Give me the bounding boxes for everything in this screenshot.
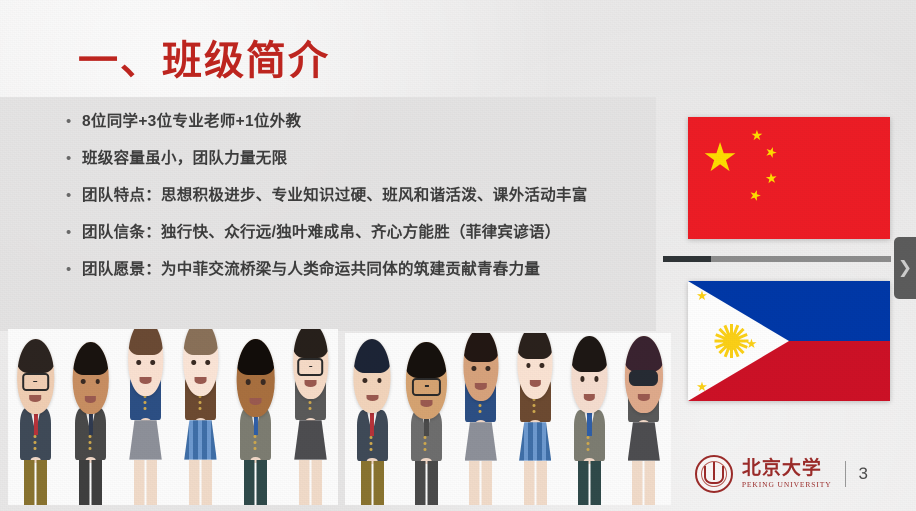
list-item: • 团队信条：独行快、众行远/独叶难成帛、齐心方能胜（菲律宾谚语） xyxy=(0,220,656,246)
figure-eye xyxy=(95,379,100,384)
figure-head xyxy=(406,342,446,419)
scrollbar-thumb[interactable] xyxy=(663,256,711,262)
figure-legs xyxy=(24,460,47,505)
student-figure xyxy=(10,354,61,505)
china-flag-star-icon: ★ xyxy=(702,138,738,178)
figure-legs xyxy=(578,461,601,505)
figure-sunglasses-icon xyxy=(629,370,658,385)
list-item: • 班级容量虽小，团队力量无限 xyxy=(0,146,656,172)
figure-torso xyxy=(574,410,605,460)
figure-legs xyxy=(299,460,322,505)
figure-eye xyxy=(594,376,599,381)
university-name-en: PEKING UNIVERSITY xyxy=(742,481,832,489)
figure-eye xyxy=(81,379,86,384)
figure-head xyxy=(72,342,109,415)
student-group-photo-right xyxy=(345,333,671,505)
figure-hair xyxy=(236,339,275,375)
figure-mouth xyxy=(475,383,486,390)
figure-mouth xyxy=(638,394,650,401)
next-slide-button[interactable]: ❯ xyxy=(894,237,916,299)
footer-divider xyxy=(845,461,846,487)
student-figure xyxy=(564,357,614,505)
figure-hair xyxy=(625,336,663,371)
figure-eye xyxy=(526,363,531,368)
figure-hair xyxy=(72,342,109,375)
figure-head xyxy=(183,329,219,396)
horizontal-scrollbar[interactable] xyxy=(663,256,891,262)
figure-torso xyxy=(20,408,52,459)
peking-university-seal-icon xyxy=(695,455,733,493)
figure-legs xyxy=(415,461,438,505)
figure-eye xyxy=(377,378,382,383)
figure-headband xyxy=(354,339,391,373)
china-flag: ★ ★ ★ ★ ★ xyxy=(688,117,890,239)
figure-mouth xyxy=(29,395,41,402)
bullet-list: • 8位同学+3位专业老师+1位外教 • 班级容量虽小，团队力量无限 • 团队特… xyxy=(0,97,656,331)
bullet-marker-icon: • xyxy=(66,183,82,209)
chevron-right-icon: ❯ xyxy=(898,258,912,278)
figure-glasses-icon xyxy=(298,358,324,376)
bullet-marker-icon: • xyxy=(66,257,82,283)
figure-eye xyxy=(485,366,490,371)
china-flag-star-icon: ★ xyxy=(751,128,764,142)
figure-legs xyxy=(189,460,212,505)
bullet-marker-icon: • xyxy=(66,146,82,172)
figure-mouth xyxy=(305,380,316,387)
figure-eye xyxy=(150,360,155,365)
figure-eye xyxy=(191,360,196,365)
figure-row xyxy=(8,329,338,505)
philippines-flag: ★ ★ ★ xyxy=(688,281,890,401)
figure-mouth xyxy=(140,377,151,384)
figure-eye xyxy=(472,366,477,371)
figure-legs xyxy=(134,460,157,505)
list-item: • 8位同学+3位专业老师+1位外教 xyxy=(0,109,656,135)
figure-skirt xyxy=(129,420,162,459)
philippines-flag-star-icon: ★ xyxy=(746,337,758,350)
china-flag-star-icon: ★ xyxy=(763,143,780,160)
figure-eye xyxy=(205,360,210,365)
figure-buttons xyxy=(370,433,375,454)
figure-legs xyxy=(361,461,384,505)
student-figure xyxy=(510,357,560,505)
footer-branding: 北京大学 PEKING UNIVERSITY 3 xyxy=(695,455,868,493)
figure-skirt xyxy=(184,420,217,459)
student-figure xyxy=(230,354,281,505)
philippines-flag-sun-icon xyxy=(714,324,748,358)
figure-mouth xyxy=(420,400,433,407)
figure-legs xyxy=(79,460,102,505)
student-figure xyxy=(285,354,336,505)
page-title: 一、班级简介 xyxy=(78,28,330,86)
figure-hair xyxy=(128,329,164,355)
figure-skirt xyxy=(294,420,327,459)
figure-hair xyxy=(463,333,498,362)
figure-mouth xyxy=(195,377,206,384)
figure-hair xyxy=(572,336,607,371)
china-flag-star-icon: ★ xyxy=(747,186,763,203)
figure-row xyxy=(345,333,671,505)
student-figure xyxy=(347,357,397,505)
bullet-text: 团队信条：独行快、众行远/独叶难成帛、齐心方能胜（菲律宾谚语） xyxy=(82,220,561,246)
figure-eye xyxy=(362,378,367,383)
bullet-text: 班级容量虽小，团队力量无限 xyxy=(82,146,287,172)
philippines-flag-star-icon: ★ xyxy=(696,289,708,302)
figure-mouth xyxy=(584,394,595,401)
philippines-flag-star-icon: ★ xyxy=(696,380,708,393)
figure-eye xyxy=(136,360,141,365)
figure-legs xyxy=(524,461,547,505)
figure-head xyxy=(236,339,275,418)
figure-hair xyxy=(406,342,446,377)
figure-eye xyxy=(540,363,545,368)
student-group-photo-left xyxy=(8,329,338,505)
figure-skirt xyxy=(465,422,497,460)
figure-buttons xyxy=(587,433,592,454)
figure-head xyxy=(128,329,164,396)
figure-head xyxy=(354,339,391,413)
student-figure xyxy=(401,357,451,505)
figure-head xyxy=(572,336,607,413)
figure-head xyxy=(463,333,498,401)
figure-head xyxy=(518,333,553,399)
figure-mouth xyxy=(85,396,97,403)
bullet-text: 8位同学+3位专业老师+1位外教 xyxy=(82,109,301,135)
university-wordmark: 北京大学 PEKING UNIVERSITY xyxy=(742,459,832,489)
bullet-text: 团队愿景：为中菲交流桥梁与人类命运共同体的筑建贡献青春力量 xyxy=(82,257,540,283)
bullet-marker-icon: • xyxy=(66,220,82,246)
figure-buttons xyxy=(253,432,258,453)
bullet-text: 团队特点：思想积极进步、专业知识过硬、班风和谐活泼、课外活动丰富 xyxy=(82,183,588,209)
figure-legs xyxy=(632,461,655,505)
figure-hair xyxy=(17,339,55,374)
page-number: 3 xyxy=(859,464,868,484)
figure-buttons xyxy=(424,433,429,454)
figure-head xyxy=(17,339,55,415)
figure-legs xyxy=(469,461,492,505)
student-figure xyxy=(619,357,669,505)
list-item: • 团队愿景：为中菲交流桥梁与人类命运共同体的筑建贡献青春力量 xyxy=(0,257,656,283)
bullet-marker-icon: • xyxy=(66,109,82,135)
figure-hair xyxy=(183,329,219,355)
student-figure xyxy=(65,354,116,505)
list-item: • 团队特点：思想积极进步、专业知识过硬、班风和谐活泼、课外活动丰富 xyxy=(0,183,656,209)
figure-buttons xyxy=(88,432,93,453)
figure-torso xyxy=(357,410,388,460)
china-flag-star-icon: ★ xyxy=(764,170,778,185)
student-figure xyxy=(120,354,171,505)
slide-canvas: 一、班级简介 • 8位同学+3位专业老师+1位外教 • 班级容量虽小，团队力量无… xyxy=(0,0,916,511)
figure-mouth xyxy=(530,380,541,387)
figure-head xyxy=(293,329,329,399)
figure-head xyxy=(625,336,663,413)
student-figure xyxy=(175,354,226,505)
figure-hair xyxy=(518,333,553,359)
figure-legs xyxy=(244,460,267,505)
university-name-cn: 北京大学 xyxy=(742,459,832,478)
figure-hair xyxy=(293,329,329,358)
figure-skirt xyxy=(628,422,660,460)
figure-skirt xyxy=(519,422,551,460)
figure-buttons xyxy=(33,432,38,453)
figure-torso xyxy=(75,408,107,459)
figure-glasses-icon xyxy=(412,378,441,396)
figure-mouth xyxy=(366,395,378,402)
student-figure xyxy=(456,357,506,505)
figure-glasses-icon xyxy=(22,373,49,391)
